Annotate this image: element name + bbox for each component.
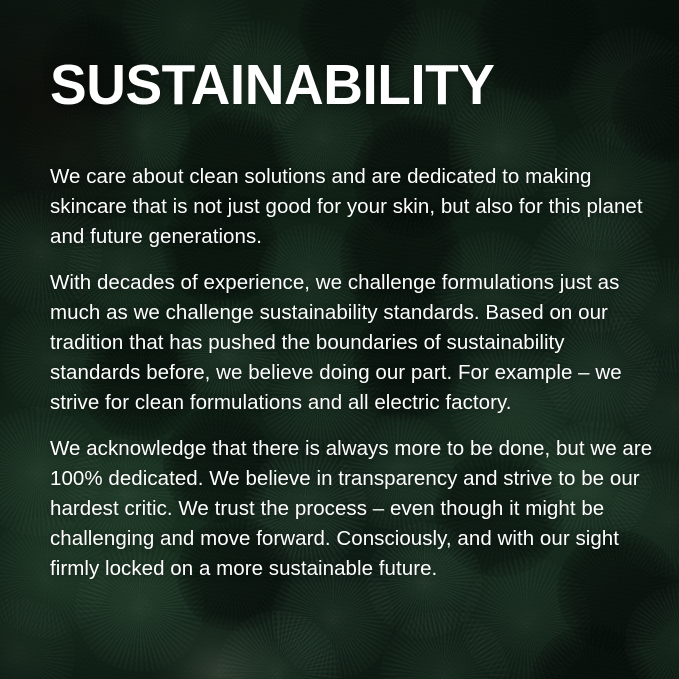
page-title: SUSTAINABILITY bbox=[50, 56, 494, 114]
paragraph-2: With decades of experience, we challenge… bbox=[50, 268, 653, 418]
paragraph-1: We care about clean solutions and are de… bbox=[50, 162, 653, 252]
sustainability-poster: SUSTAINABILITY We care about clean solut… bbox=[0, 0, 679, 679]
paragraph-3: We acknowledge that there is always more… bbox=[50, 434, 653, 584]
body-copy: We care about clean solutions and are de… bbox=[50, 162, 653, 584]
poster-content: SUSTAINABILITY We care about clean solut… bbox=[50, 0, 650, 679]
